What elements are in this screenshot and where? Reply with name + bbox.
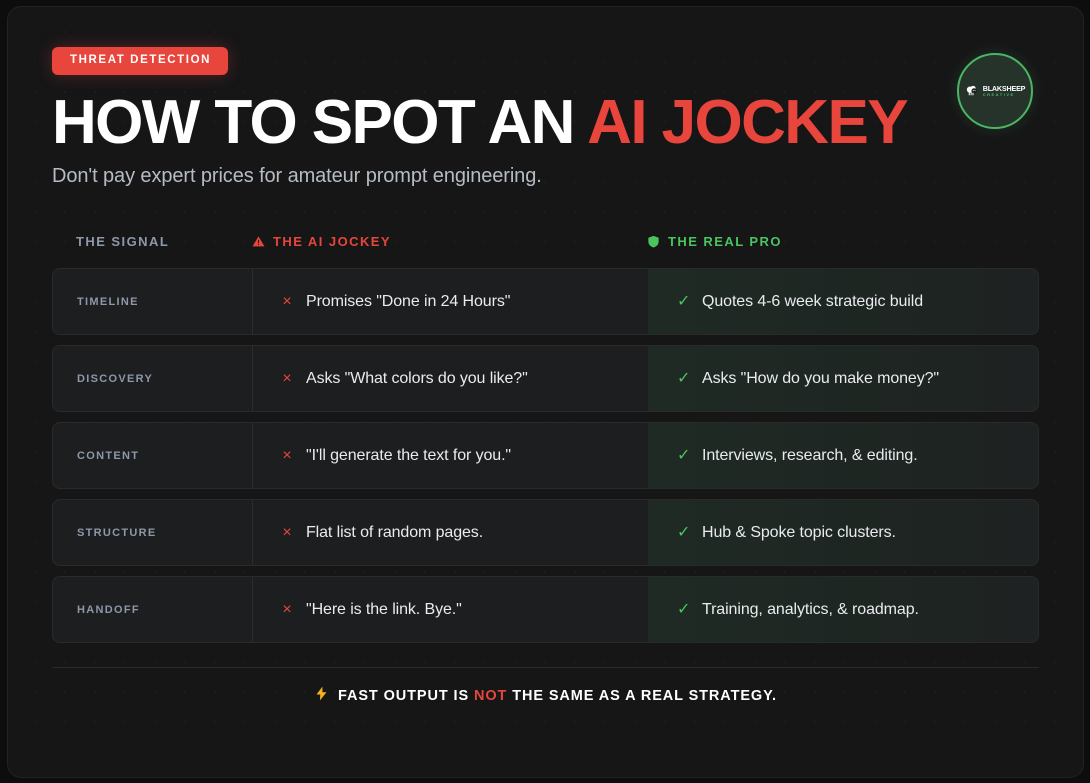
row-jockey-cell: × "Here is the link. Bye." — [253, 577, 648, 642]
row-jockey-text: "Here is the link. Bye." — [306, 601, 462, 619]
brand-tagline: CREATIVE — [983, 93, 1026, 97]
cross-icon: × — [281, 294, 293, 310]
row-pro-cell: ✓ Quotes 4-6 week strategic build — [648, 269, 1038, 334]
warning-triangle-icon — [252, 235, 265, 248]
check-icon: ✓ — [677, 294, 689, 310]
column-header-pro: THE REAL PRO — [647, 234, 1039, 249]
row-signal-label: DISCOVERY — [77, 373, 153, 385]
comparison-table: TIMELINE × Promises "Done in 24 Hours" ✓… — [52, 268, 1039, 643]
row-pro-cell: ✓ Training, analytics, & roadmap. — [648, 577, 1038, 642]
page-subtitle: Don't pay expert prices for amateur prom… — [52, 165, 1039, 188]
row-jockey-text: Flat list of random pages. — [306, 524, 483, 542]
footer-emphasis: NOT — [474, 688, 507, 704]
row-pro-cell: ✓ Hub & Spoke topic clusters. — [648, 500, 1038, 565]
check-icon: ✓ — [677, 371, 689, 387]
header: THREAT DETECTION HOW TO SPOT AN AI JOCKE… — [52, 47, 1039, 188]
row-signal-cell: HANDOFF — [53, 577, 253, 642]
row-signal-label: STRUCTURE — [77, 527, 157, 539]
brand-logo-badge: BLAKSHEEP CREATIVE — [957, 53, 1033, 129]
table-row: CONTENT × "I'll generate the text for yo… — [52, 422, 1039, 489]
cross-icon: × — [281, 602, 293, 618]
row-signal-cell: STRUCTURE — [53, 500, 253, 565]
cross-icon: × — [281, 525, 293, 541]
row-signal-label: CONTENT — [77, 450, 139, 462]
row-signal-cell: DISCOVERY — [53, 346, 253, 411]
column-header-jockey: THE AI JOCKEY — [252, 234, 647, 249]
row-jockey-cell: × Flat list of random pages. — [253, 500, 648, 565]
cross-icon: × — [281, 448, 293, 464]
row-signal-cell: TIMELINE — [53, 269, 253, 334]
page-title: HOW TO SPOT AN AI JOCKEY — [52, 94, 1039, 152]
row-jockey-cell: × Asks "What colors do you like?" — [253, 346, 648, 411]
column-header-signal: THE SIGNAL — [52, 234, 252, 249]
threat-detection-badge: THREAT DETECTION — [52, 47, 228, 75]
check-icon: ✓ — [677, 448, 689, 464]
row-jockey-text: "I'll generate the text for you." — [306, 447, 511, 465]
check-icon: ✓ — [677, 602, 689, 618]
footer: FAST OUTPUT IS NOT THE SAME AS A REAL ST… — [52, 686, 1039, 705]
footer-lead: FAST OUTPUT IS — [338, 688, 474, 704]
poster-page: THREAT DETECTION HOW TO SPOT AN AI JOCKE… — [0, 0, 1090, 783]
row-signal-cell: CONTENT — [53, 423, 253, 488]
column-header-signal-label: THE SIGNAL — [76, 234, 169, 249]
sheep-icon — [965, 84, 980, 99]
poster-card: THREAT DETECTION HOW TO SPOT AN AI JOCKE… — [7, 6, 1084, 778]
brand-name: BLAKSHEEP — [983, 85, 1026, 92]
row-pro-cell: ✓ Interviews, research, & editing. — [648, 423, 1038, 488]
brand-wordmark: BLAKSHEEP CREATIVE — [983, 85, 1026, 98]
footer-text: FAST OUTPUT IS NOT THE SAME AS A REAL ST… — [338, 688, 777, 704]
table-row: STRUCTURE × Flat list of random pages. ✓… — [52, 499, 1039, 566]
page-title-accent: AI JOCKEY — [587, 88, 907, 157]
table-row: HANDOFF × "Here is the link. Bye." ✓ Tra… — [52, 576, 1039, 643]
table-row: DISCOVERY × Asks "What colors do you lik… — [52, 345, 1039, 412]
cross-icon: × — [281, 371, 293, 387]
row-jockey-text: Asks "What colors do you like?" — [306, 370, 528, 388]
table-row: TIMELINE × Promises "Done in 24 Hours" ✓… — [52, 268, 1039, 335]
footer-tail: THE SAME AS A REAL STRATEGY. — [507, 688, 777, 704]
shield-icon — [647, 235, 660, 248]
row-pro-text: Training, analytics, & roadmap. — [702, 601, 919, 619]
row-signal-label: HANDOFF — [77, 604, 140, 616]
column-header-pro-label: THE REAL PRO — [668, 234, 782, 249]
lightning-bolt-icon — [314, 686, 329, 705]
page-title-lead: HOW TO SPOT AN — [52, 88, 587, 157]
column-header-jockey-label: THE AI JOCKEY — [273, 234, 391, 249]
row-jockey-cell: × Promises "Done in 24 Hours" — [253, 269, 648, 334]
row-pro-text: Hub & Spoke topic clusters. — [702, 524, 896, 542]
row-jockey-text: Promises "Done in 24 Hours" — [306, 293, 510, 311]
row-jockey-cell: × "I'll generate the text for you." — [253, 423, 648, 488]
comparison-column-headers: THE SIGNAL THE AI JOCKEY THE REAL PRO — [52, 234, 1039, 249]
check-icon: ✓ — [677, 525, 689, 541]
footer-divider — [52, 667, 1039, 668]
row-pro-text: Asks "How do you make money?" — [702, 370, 939, 388]
row-pro-cell: ✓ Asks "How do you make money?" — [648, 346, 1038, 411]
row-signal-label: TIMELINE — [77, 296, 139, 308]
row-pro-text: Interviews, research, & editing. — [702, 447, 918, 465]
row-pro-text: Quotes 4-6 week strategic build — [702, 293, 923, 311]
